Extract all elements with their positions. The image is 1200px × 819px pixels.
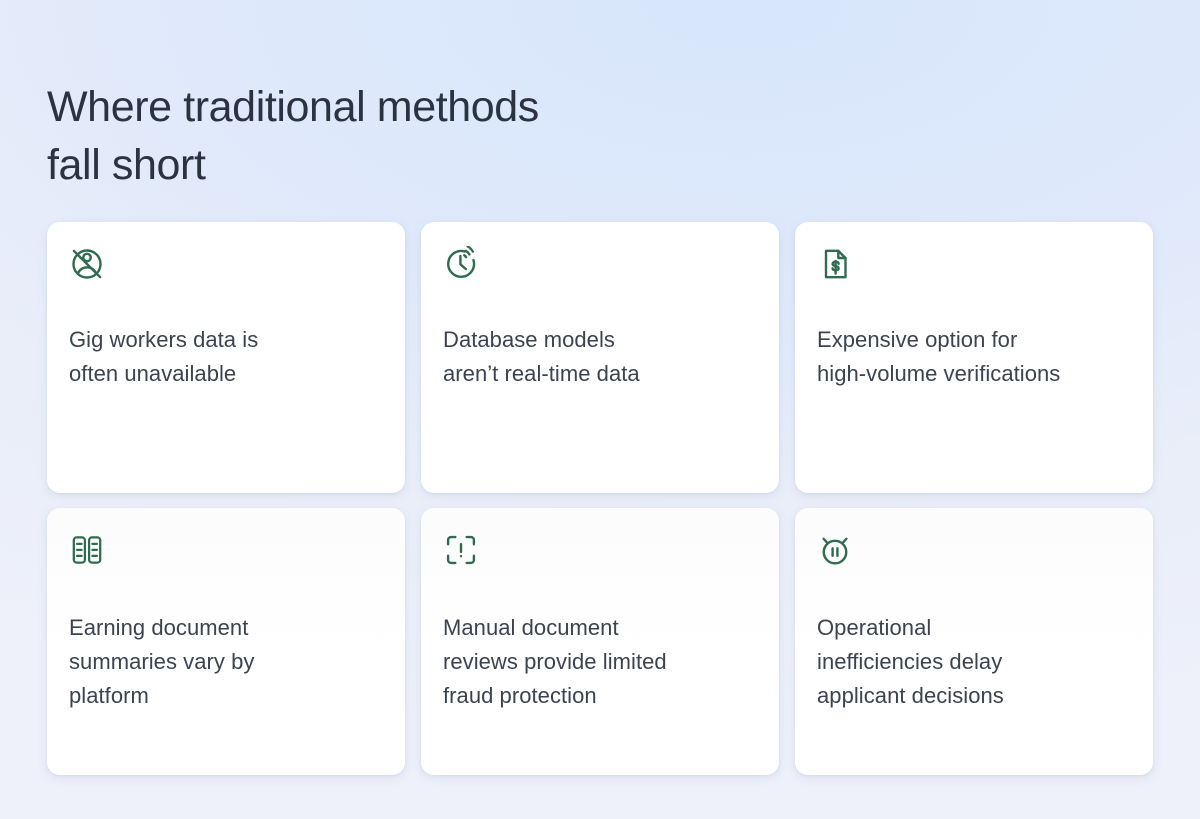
card-manual-document-reviews: Manual document reviews provide limited … [421, 508, 779, 775]
card-gig-workers-data: Gig workers data is often unavailable [47, 222, 405, 493]
alarm-pause-icon [817, 532, 857, 572]
card-text: Expensive option for high-volume verific… [817, 323, 1131, 449]
card-expensive-option: Expensive option for high-volume verific… [795, 222, 1153, 493]
scan-alert-icon [443, 532, 483, 572]
page-root: Where traditional methods fall short Gig… [0, 0, 1200, 819]
card-text: Operational inefficiencies delay applica… [817, 611, 1131, 731]
card-operational-inefficiencies: Operational inefficiencies delay applica… [795, 508, 1153, 775]
cards-grid: Gig workers data is often unavailable Da… [47, 222, 1153, 775]
clock-signal-icon [443, 246, 483, 286]
card-text: Gig workers data is often unavailable [69, 323, 383, 449]
card-database-models: Database models aren’t real-time data [421, 222, 779, 493]
card-text: Database models aren’t real-time data [443, 323, 757, 449]
card-earning-document-summaries: Earning document summaries vary by platf… [47, 508, 405, 775]
page-title: Where traditional methods fall short [47, 78, 747, 194]
document-dollar-icon [817, 246, 857, 286]
two-documents-compare-icon [69, 532, 109, 572]
user-unavailable-icon [69, 246, 109, 286]
card-text: Earning document summaries vary by platf… [69, 611, 383, 731]
card-text: Manual document reviews provide limited … [443, 611, 757, 731]
